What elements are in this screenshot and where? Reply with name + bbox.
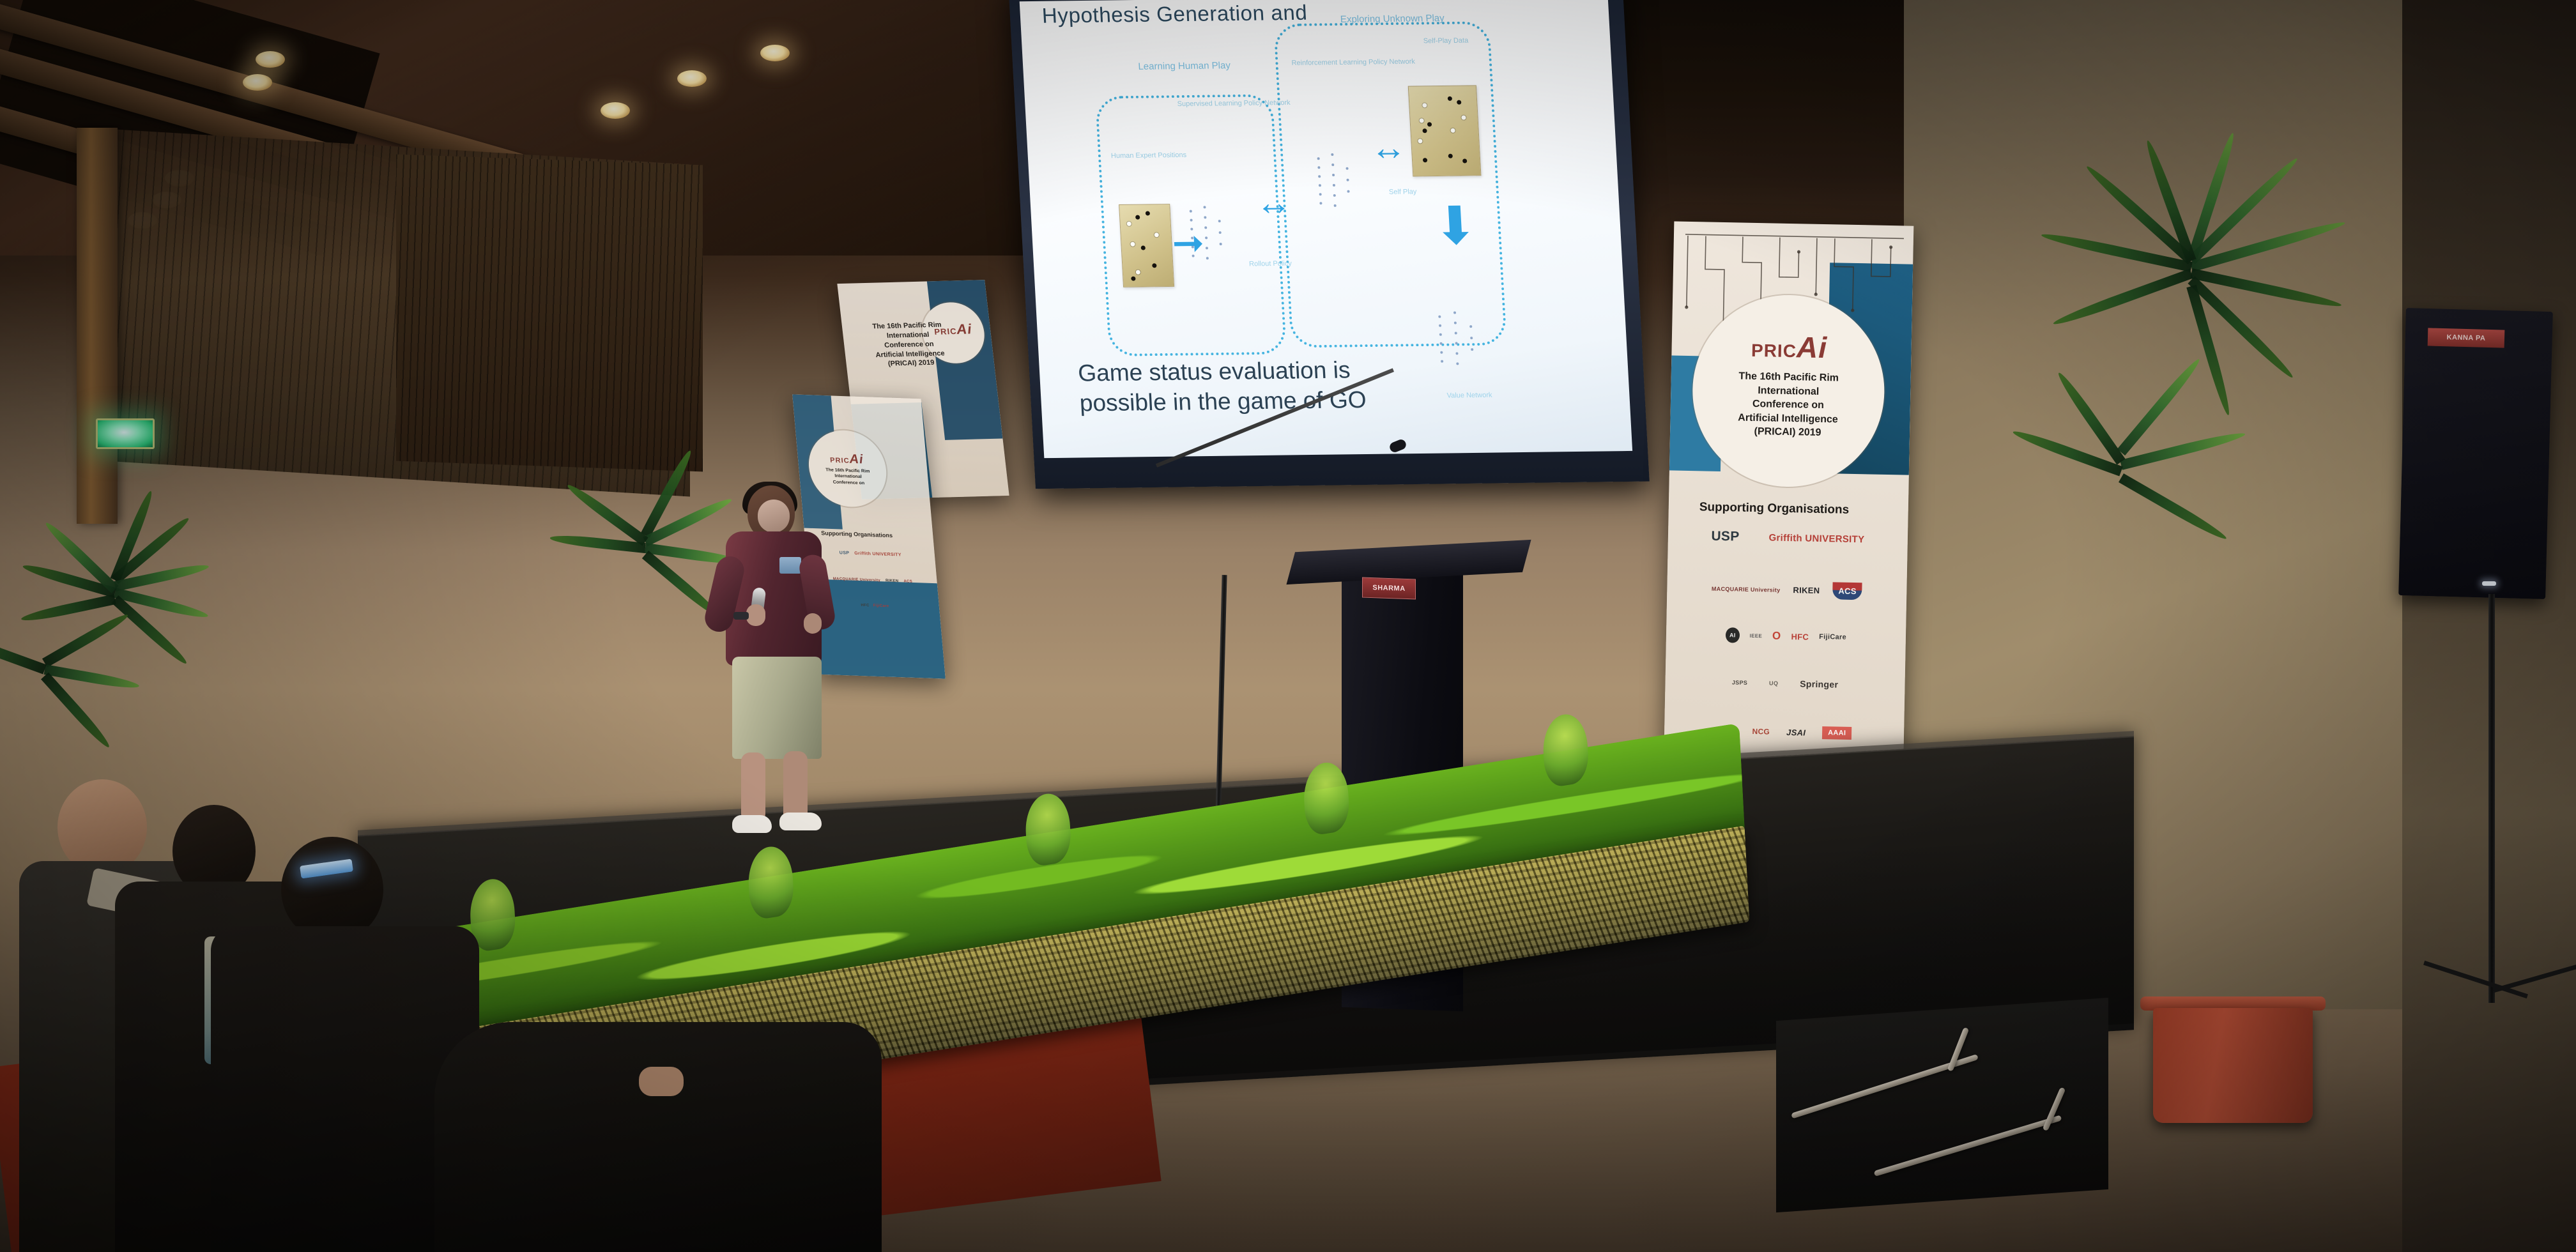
ceiling-downlight bbox=[256, 51, 285, 68]
presenter-leg-left bbox=[741, 752, 765, 823]
sponsor-row: JSPS UQ Springer bbox=[1665, 676, 1905, 691]
pa-speaker-stand-pole bbox=[2488, 594, 2495, 1003]
presenter-shoe-left bbox=[732, 815, 772, 833]
banner-logo-prefix: PRIC bbox=[1751, 340, 1797, 361]
banner-logo-prefix: PRIC bbox=[830, 457, 850, 465]
terracotta-pot bbox=[2153, 1008, 2313, 1123]
label-self-play: Self Play bbox=[1380, 188, 1425, 196]
slide-surface: Hypothesis Generation and Learning Human… bbox=[1020, 0, 1632, 458]
sponsor-logo: ACS bbox=[903, 579, 912, 583]
palm-plant-right bbox=[1917, 166, 2377, 805]
sponsor-logo-griffith: Griffith UNIVERSITY bbox=[1768, 532, 1864, 545]
presenter-badge bbox=[779, 557, 801, 574]
pa-speaker-label: KANNA PA bbox=[2428, 328, 2505, 347]
presenter-hand-left bbox=[746, 604, 765, 626]
banner-title-line5: (PRICAI) 2019 bbox=[1738, 425, 1838, 441]
sponsor-logo-ai: AI bbox=[1726, 627, 1740, 643]
sponsor-logo-jsps: JSPS bbox=[1732, 679, 1747, 685]
slide-caption-line2: possible in the game of GO bbox=[1079, 385, 1413, 419]
label-reinforcement-policy-network: Reinforcement Learning Policy Network bbox=[1291, 58, 1375, 67]
banner-title-line4: Artificial Intelligence bbox=[1738, 411, 1838, 427]
slide-title: Hypothesis Generation and bbox=[1041, 1, 1308, 28]
sponsor-logo-ncg: NCG bbox=[1752, 727, 1770, 737]
label-supervised-policy-network: Supervised Learning Policy Network bbox=[1177, 100, 1254, 108]
sponsor-logo-uq: UQ bbox=[1769, 680, 1778, 686]
sponsor-logo-aaai: AAAI bbox=[1822, 726, 1851, 740]
sponsor-logo: HFC bbox=[861, 604, 870, 607]
label-self-play-data: Self-Play Data bbox=[1411, 36, 1482, 45]
pipeline-group-right bbox=[1273, 21, 1507, 347]
ceiling-downlight bbox=[677, 70, 707, 87]
label-human-expert-positions: Human Expert Positions bbox=[1111, 151, 1176, 160]
banner-title-line3: Conference on bbox=[1738, 397, 1838, 413]
exit-sign bbox=[96, 418, 155, 449]
projection-screen: Hypothesis Generation and Learning Human… bbox=[1008, 0, 1649, 489]
arrow-right-icon: ➞ bbox=[1171, 224, 1206, 263]
sponsor-logo-springer: Springer bbox=[1800, 678, 1838, 689]
photo-scene: Hypothesis Generation and Learning Human… bbox=[0, 0, 2576, 1252]
stage-stairs bbox=[1776, 998, 2108, 1212]
banner-title-line2: International bbox=[1738, 383, 1839, 399]
ceiling-downlight bbox=[601, 102, 630, 119]
sponsor-row: AI IEEE O HFC FijiCare bbox=[1666, 626, 1906, 646]
presenter-hand-right bbox=[804, 613, 822, 634]
audience-shoulders bbox=[434, 1022, 882, 1252]
sponsor-logo-riken: RIKEN bbox=[1793, 585, 1820, 595]
audience-hand bbox=[639, 1067, 684, 1096]
slide-caption: Game status evaluation is possible in th… bbox=[1077, 354, 1413, 418]
label-rollout-policy: Rollout Policy bbox=[1238, 259, 1303, 268]
sponsor-logo-hfc: HFC bbox=[1791, 632, 1809, 642]
sponsor-logo: RIKEN bbox=[885, 579, 899, 583]
podium-name-plate: SHARMA bbox=[1362, 577, 1416, 600]
ceiling-downlight bbox=[760, 45, 790, 61]
sponsor-logo: Griffith UNIVERSITY bbox=[854, 551, 901, 558]
stair-handrail bbox=[1874, 1115, 2062, 1177]
sponsor-logo-macquarie: MACQUARIE University bbox=[1712, 585, 1781, 593]
presenter-wristwatch bbox=[733, 612, 749, 620]
label-value-network: Value Network bbox=[1437, 392, 1502, 400]
wooden-pillar bbox=[77, 128, 118, 524]
banner-logo-mark: Ai bbox=[848, 452, 864, 467]
sponsor-logo-usp: USP bbox=[1711, 529, 1740, 545]
banner-logo-mark: Ai bbox=[1797, 330, 1828, 364]
sponsor-logo-o: O bbox=[1772, 630, 1781, 643]
arrow-left-right-icon: ↔ bbox=[1255, 185, 1292, 221]
banner-title-line1: The 16th Pacific Rim bbox=[1738, 369, 1839, 385]
pa-speaker-cabinet bbox=[2398, 308, 2553, 599]
pa-speaker-power-led bbox=[2482, 581, 2496, 586]
go-board-left bbox=[1119, 204, 1174, 287]
sponsor-row: USP Griffith UNIVERSITY bbox=[1668, 528, 1908, 547]
sponsor-logo-jsai: JSAI bbox=[1786, 728, 1805, 738]
presenter-shorts bbox=[732, 657, 822, 759]
sponsor-logo: FijiCare bbox=[873, 604, 889, 609]
presenter-face bbox=[758, 500, 790, 533]
go-board-right bbox=[1408, 85, 1482, 176]
wood-slat-wall-secondary bbox=[396, 155, 703, 472]
slide-section-label-left: Learning Human Play bbox=[1138, 60, 1230, 72]
presenter bbox=[696, 485, 856, 843]
audience-member bbox=[434, 996, 882, 1252]
sponsor-logo-acs: ACS bbox=[1832, 582, 1862, 600]
arrow-left-right-icon: ↔ bbox=[1369, 130, 1407, 166]
sponsor-logo-ieee: IEEE bbox=[1750, 632, 1763, 638]
stair-handrail bbox=[2043, 1087, 2066, 1131]
presenter-shoe-right bbox=[779, 813, 822, 830]
ceiling-downlight bbox=[243, 74, 272, 91]
arrow-down-icon: ⬇ bbox=[1432, 200, 1478, 253]
supporting-organisations-heading: Supporting Organisations bbox=[1699, 500, 1850, 517]
sponsor-row: MACQUARIE University RIKEN ACS bbox=[1667, 579, 1906, 600]
sponsor-logo-fijicare: FijiCare bbox=[1819, 633, 1846, 641]
